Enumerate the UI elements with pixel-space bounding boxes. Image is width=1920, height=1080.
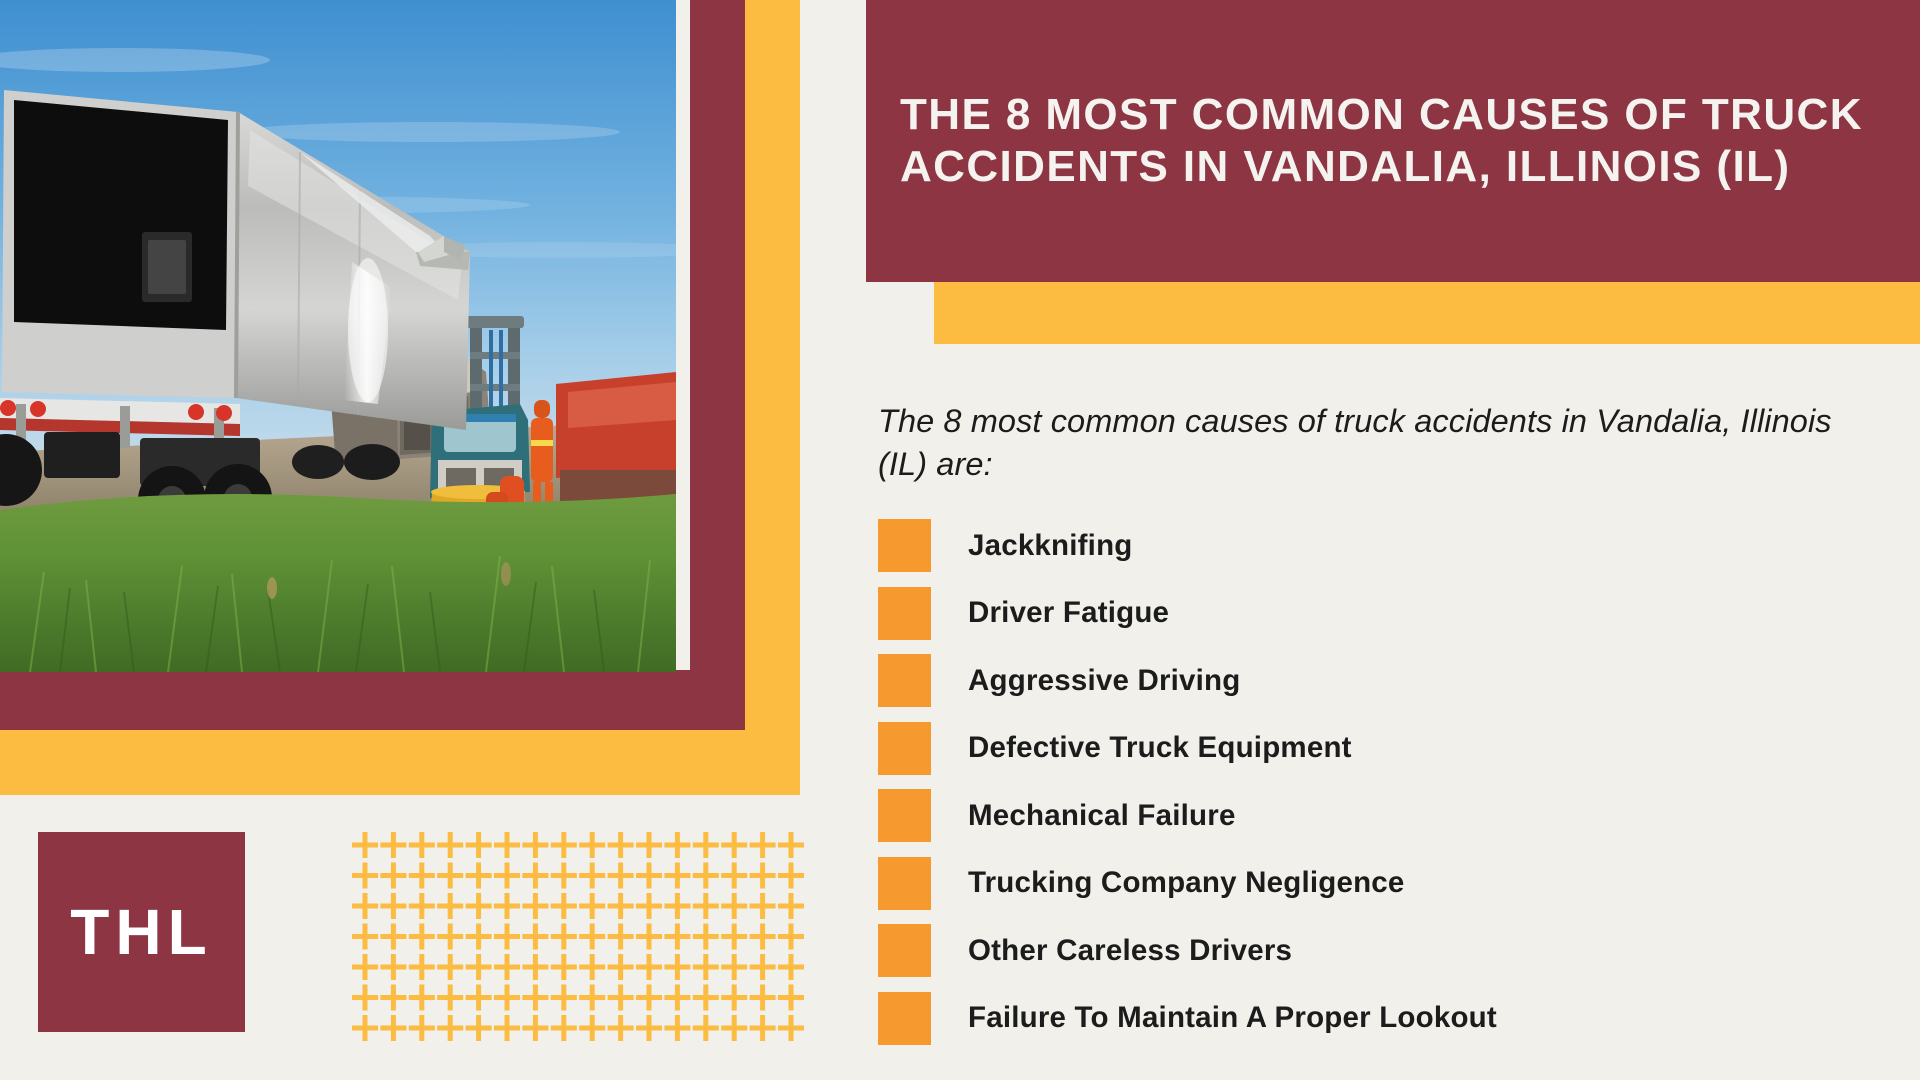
- cause-label: Defective Truck Equipment: [968, 731, 1352, 765]
- causes-list: JackknifingDriver FatigueAggressive Driv…: [878, 512, 1888, 1052]
- intro-paragraph: The 8 most common causes of truck accide…: [878, 400, 1888, 486]
- thl-logo-text: THL: [70, 900, 212, 964]
- cause-row: Aggressive Driving: [878, 647, 1888, 715]
- cause-bullet-square-icon: [878, 519, 931, 572]
- cause-row: Failure To Maintain A Proper Lookout: [878, 985, 1888, 1053]
- truck-accident-photo: [0, 0, 676, 672]
- cause-row: Driver Fatigue: [878, 580, 1888, 648]
- cause-label: Other Careless Drivers: [968, 934, 1292, 968]
- cause-bullet-square-icon: [878, 587, 931, 640]
- cause-bullet-square-icon: [878, 992, 931, 1045]
- cause-label: Mechanical Failure: [968, 799, 1236, 833]
- cause-label: Jackknifing: [968, 529, 1133, 563]
- cause-row: Jackknifing: [878, 512, 1888, 580]
- cause-bullet-square-icon: [878, 924, 931, 977]
- cause-label: Aggressive Driving: [968, 664, 1240, 698]
- cause-label: Driver Fatigue: [968, 596, 1169, 630]
- plus-pattern-decoration: [352, 832, 804, 1047]
- title-banner: THE 8 MOST COMMON CAUSES OF TRUCK ACCIDE…: [866, 0, 1920, 282]
- cause-row: Other Careless Drivers: [878, 917, 1888, 985]
- cause-bullet-square-icon: [878, 857, 931, 910]
- title-underline-bar: [934, 282, 1920, 344]
- cause-row: Mechanical Failure: [878, 782, 1888, 850]
- cause-bullet-square-icon: [878, 722, 931, 775]
- page-title: THE 8 MOST COMMON CAUSES OF TRUCK ACCIDE…: [866, 89, 1920, 194]
- cause-row: Defective Truck Equipment: [878, 715, 1888, 783]
- thl-logo[interactable]: THL: [38, 832, 245, 1032]
- infographic-canvas: THL THE 8 MOST COMMON CAUSES OF TRUCK AC…: [0, 0, 1920, 1080]
- cause-row: Trucking Company Negligence: [878, 850, 1888, 918]
- cause-label: Failure To Maintain A Proper Lookout: [968, 1001, 1497, 1035]
- cause-bullet-square-icon: [878, 654, 931, 707]
- cause-bullet-square-icon: [878, 789, 931, 842]
- cause-label: Trucking Company Negligence: [968, 866, 1405, 900]
